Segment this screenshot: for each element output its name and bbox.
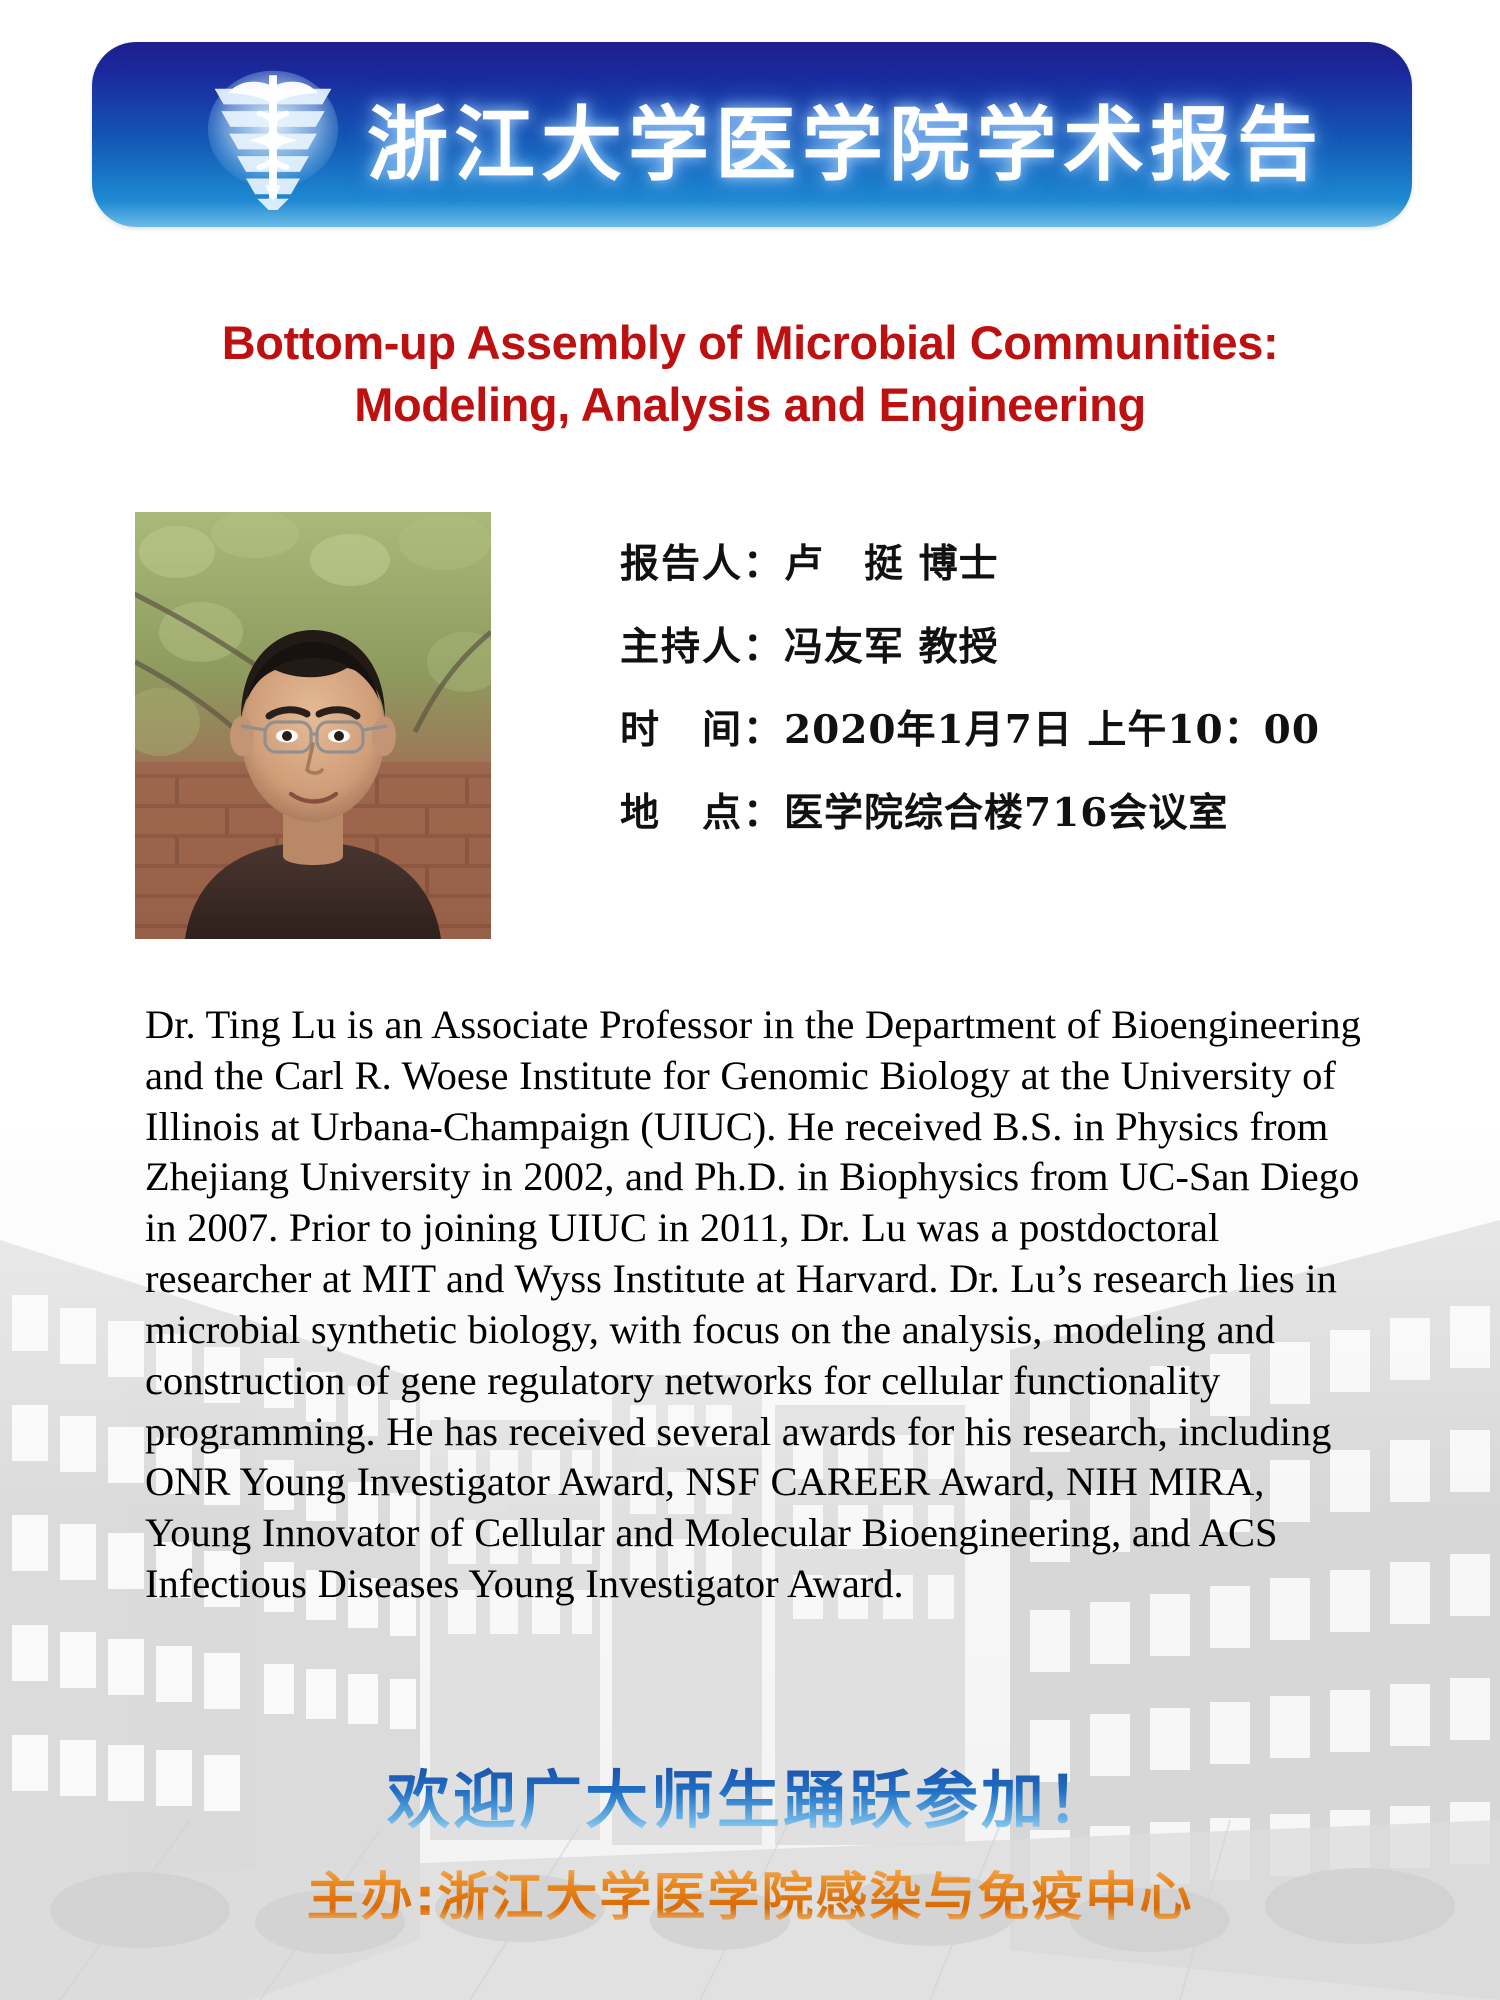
speaker-row: 报告人：卢 挺 博士: [620, 545, 1410, 584]
seminar-poster: 浙江大学医学院学术报告 Bottom-up Assembly of Microb…: [0, 0, 1500, 2000]
organizer-line: 主办:浙江大学医学院感染与免疫中心: [0, 1855, 1500, 1930]
place-label: 地 点：: [620, 794, 784, 833]
host-value: 冯友军 教授: [784, 624, 999, 670]
time-label: 时 间：: [620, 711, 784, 750]
speaker-biography: Dr. Ting Lu is an Associate Professor in…: [145, 1000, 1375, 1610]
speaker-value: 卢 挺 博士: [784, 541, 999, 587]
event-details: 报告人：卢 挺 博士 主持人：冯友军 教授 时 间：2020年1月7日 上午10…: [620, 545, 1410, 833]
talk-title-line-1: Bottom-up Assembly of Microbial Communit…: [90, 312, 1410, 374]
time-value: 2020年1月7日 上午10：00: [784, 707, 1320, 753]
speaker-portrait-photo: [135, 512, 491, 939]
page-title: Bottom-up Assembly of Microbial Communit…: [90, 312, 1410, 436]
place-value: 医学院综合楼716会议室: [784, 790, 1228, 836]
host-label: 主持人：: [620, 628, 784, 667]
welcome-message: 欢迎广大师生踊跃参加！: [0, 1750, 1500, 1841]
speaker-label: 报告人：: [620, 545, 784, 584]
caduceus-medical-logo-icon: [204, 64, 342, 210]
time-row: 时 间：2020年1月7日 上午10：00: [620, 711, 1410, 750]
talk-title-line-2: Modeling, Analysis and Engineering: [90, 374, 1410, 436]
place-row: 地 点：医学院综合楼716会议室: [620, 794, 1410, 833]
header-banner: 浙江大学医学院学术报告: [92, 42, 1412, 227]
banner-title: 浙江大学医学院学术报告: [367, 68, 1382, 208]
host-row: 主持人：冯友军 教授: [620, 628, 1410, 667]
portrait-image: [135, 512, 491, 939]
